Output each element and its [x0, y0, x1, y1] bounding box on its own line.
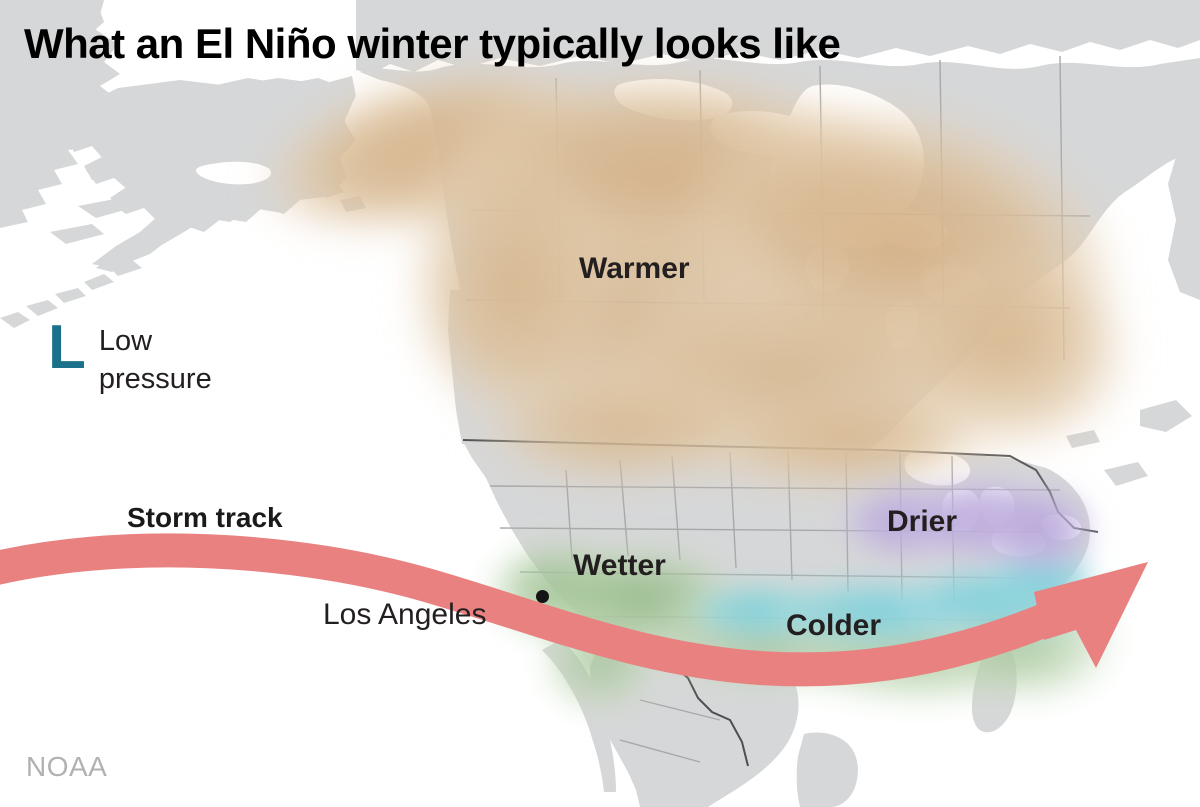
north-america-map [0, 0, 1200, 807]
infographic-root: What an El Niño winter typically looks l… [0, 0, 1200, 807]
drier-blob-east [980, 482, 1100, 578]
